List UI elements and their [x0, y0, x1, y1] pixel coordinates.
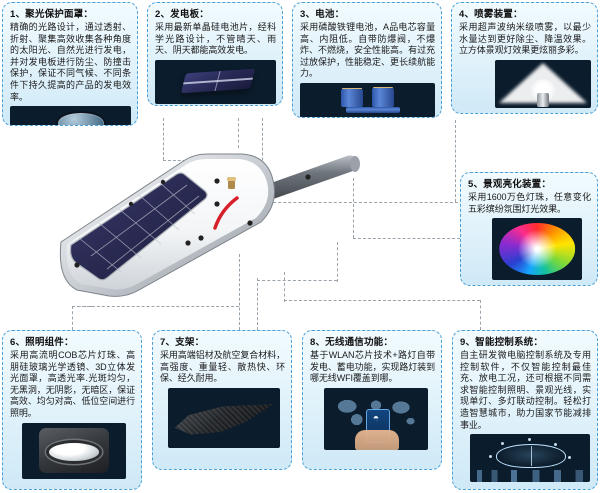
brain-network-icon: [496, 444, 565, 468]
magnifier-lens-icon: [56, 111, 106, 126]
battery-cell-icon: [372, 88, 395, 107]
callout-node: [74, 262, 79, 267]
panel-3-text: 采用磷酸铁锂电池，A品电芯容量高、内阻低。自带防爆阀，不爆炸、不燃烧，安全性能高…: [300, 22, 435, 80]
callout-node: [198, 235, 203, 240]
panel-5-title: 5、景观亮化装置：: [468, 178, 591, 191]
panel-2-text: 采用最新单晶硅电池片，经科学光路设计，不管晴天、雨天、阴天都能高效发电。: [155, 22, 276, 57]
battery-icon: [300, 83, 435, 118]
callout-node: [247, 220, 252, 225]
panel-5-landscape-lighting[interactable]: 5、景观亮化装置： 采用1600万色灯珠，任意变化五彩缤纷氛围灯光效果。: [460, 172, 598, 286]
solar-cell-chip-icon: [181, 69, 255, 94]
panel-4-spray-device[interactable]: 4、喷雾装置： 采用超声波纳米级喷雾，以最少水量达到更好除尘、降温效果。立方体景…: [451, 2, 598, 114]
network-node-icon: [568, 456, 571, 459]
spray-base-icon: [537, 93, 549, 107]
panel-8-title: 8、无线通信功能：: [310, 336, 435, 349]
panel-4-text: 采用超声波纳米级喷雾，以最少水量达到更好除尘、降温效果。立方体景观灯效果更炫丽多…: [459, 22, 591, 57]
callout-node: [161, 180, 165, 184]
spray-nozzle-icon: [495, 60, 591, 108]
battery-cell-icon: [341, 89, 364, 108]
battery-cell-icon: [346, 107, 400, 113]
panel-8-wireless-comm[interactable]: 8、无线通信功能： 基于WLAN芯片技术+路灯自带发电、蓄电功能，实现路灯装到哪…: [302, 330, 442, 470]
network-node-icon: [528, 438, 531, 441]
callout-node: [185, 240, 190, 245]
panel-1-light-cover[interactable]: 1、聚光保护面罩： 精确的光路设计，通过透射、折射、聚集高效收集各种角度的太阳光…: [2, 2, 138, 126]
color-wheel-icon: [492, 218, 582, 280]
connector-line: [455, 120, 456, 202]
callout-node: [129, 202, 133, 206]
spray-nozzle: [227, 177, 236, 189]
panel-9-text: 自主研发微电脑控制系统及专用控制软件，不仅智能控制最佳充、放电工况，还可根据不同…: [460, 350, 591, 431]
panel-7-title: 7、支架：: [160, 336, 285, 349]
wifi-world-icon: ◓: [324, 388, 428, 450]
panel-9-title: 9、智能控制系统：: [460, 336, 591, 349]
panel-3-battery[interactable]: 3、电池： 采用磷酸铁锂电池，A品电芯容量高、内阻低。自带防爆阀，不爆炸、不燃烧…: [292, 2, 442, 118]
panel-7-bracket[interactable]: 7、支架： 采用高端铝材及航空复合材料，高强度、重量轻、散热快、环保、经久耐用。: [152, 330, 292, 470]
panel-6-lighting-module[interactable]: 6、照明组件： 采用高流明COB芯片灯珠、高朋硅玻璃光学透镜、3D立体发光面罩，…: [2, 330, 142, 490]
cob-module-icon: [22, 423, 126, 479]
solar-cell-icon: [155, 60, 276, 104]
magnifier-icon: [10, 106, 131, 126]
callout-node: [214, 201, 219, 206]
network-node-icon: [554, 443, 557, 446]
infographic-stage: 1、聚光保护面罩： 精确的光路设计，通过透射、折射、聚集高效收集各种角度的太阳光…: [0, 0, 600, 493]
panel-1-text: 精确的光路设计，通过透射、折射、聚集高效收集各种角度的太阳光、自然光进行发电，并…: [10, 22, 131, 103]
panel-2-solar-board[interactable]: 2、发电板： 采用最新单晶硅电池片，经科学光路设计，不管晴天、雨天、阴天都能高效…: [147, 2, 283, 106]
network-node-icon: [501, 442, 504, 445]
hand-icon: [355, 430, 399, 450]
panel-7-text: 采用高端铝材及航空复合材料，高强度、重量轻、散热快、环保、经久耐用。: [160, 350, 285, 385]
callout-node: [214, 178, 219, 183]
panel-6-title: 6、照明组件：: [10, 336, 135, 349]
panel-2-title: 2、发电板：: [155, 8, 276, 21]
color-wheel-disc-icon: [499, 223, 575, 275]
panel-1-title: 1、聚光保护面罩：: [10, 8, 131, 21]
smart-brain-icon: [470, 434, 590, 482]
solar-street-light-illustration: [55, 138, 400, 313]
callout-node: [305, 174, 310, 179]
bracket-shell-icon: [175, 403, 274, 434]
network-node-icon: [489, 455, 492, 458]
cob-lens-icon: [49, 443, 99, 461]
city-skyline-icon: [470, 470, 590, 482]
panel-3-title: 3、电池：: [300, 8, 435, 21]
bracket-icon: [168, 388, 280, 448]
panel-6-text: 采用高流明COB芯片灯珠、高朋硅玻璃光学透镜、3D立体发光面罩，高透光率.光斑均…: [10, 350, 135, 420]
wifi-icon: ◓: [373, 413, 380, 424]
connector-line: [480, 300, 481, 330]
panel-5-text: 采用1600万色灯珠，任意变化五彩缤纷氛围灯光效果。: [468, 192, 591, 215]
panel-4-title: 4、喷雾装置：: [459, 8, 591, 21]
panel-8-text: 基于WLAN芯片技术+路灯自带发电、蓄电功能，实现路灯装到哪无线WFI覆盖到哪。: [310, 350, 435, 385]
panel-9-smart-control[interactable]: 9、智能控制系统： 自主研发微电脑控制系统及专用控制软件，不仅智能控制最佳充、放…: [452, 330, 598, 490]
